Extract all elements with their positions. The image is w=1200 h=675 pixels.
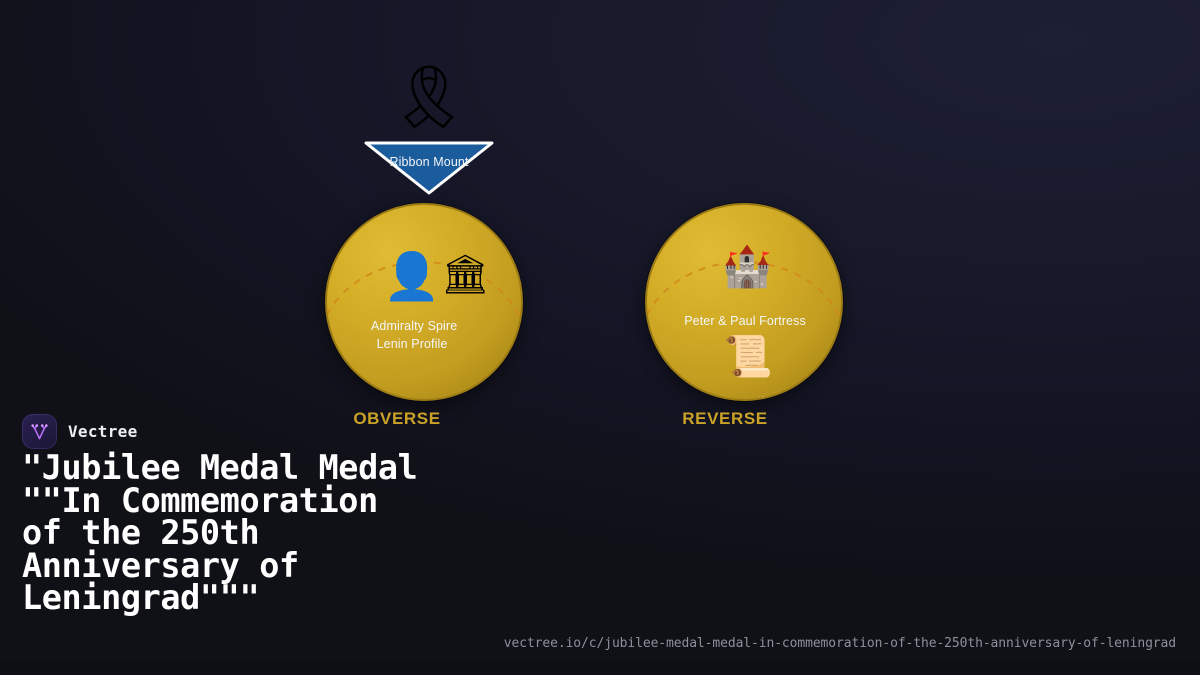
medal-side-label-obverse: OBVERSE <box>287 409 507 429</box>
feature-label-lenin-profile: Lenin Profile <box>325 337 523 351</box>
castle-icon: 🏰 <box>722 247 766 287</box>
medal-obverse: 👤 🏛 Admiralty Spire Lenin Profile <box>325 203 523 401</box>
page-title: "Jubilee Medal Medal ""In Commemoration … <box>22 452 422 615</box>
medal-infographic-canvas: 🎗 Ribbon Mount 👤 🏛 Admiralty Spire Lenin… <box>0 0 1200 675</box>
feature-label-commemoration-text: Commemoration Text <box>645 395 843 401</box>
medal-reverse: 🏰 Peter & Paul Fortress 📜 Commemoration … <box>645 203 843 401</box>
feature-label-peter-and-paul-fortress: Peter & Paul Fortress <box>645 314 843 328</box>
medal-face-reverse: 🏰 Peter & Paul Fortress 📜 Commemoration … <box>647 205 841 399</box>
ribbon-mount-label: Ribbon Mount <box>364 155 494 169</box>
feature-label-admiralty-spire: Admiralty Spire <box>371 319 523 333</box>
reminder-ribbon-icon: 🎗 <box>364 60 494 134</box>
vectree-v-tree-icon <box>22 414 57 449</box>
classical-building-icon: 🏛 <box>441 255 485 293</box>
bust-silhouette-icon: 👤 <box>383 253 433 299</box>
medal-face-obverse: 👤 🏛 Admiralty Spire Lenin Profile <box>327 205 521 399</box>
brand-name: Vectree <box>68 422 138 441</box>
source-url: vectree.io/c/jubilee-medal-medal-in-comm… <box>504 636 1176 651</box>
brand-lockup: Vectree <box>22 414 138 449</box>
scroll-icon: 📜 <box>723 337 767 377</box>
ribbon-mount-group: 🎗 Ribbon Mount <box>364 60 494 195</box>
medal-side-label-reverse: REVERSE <box>615 409 835 429</box>
